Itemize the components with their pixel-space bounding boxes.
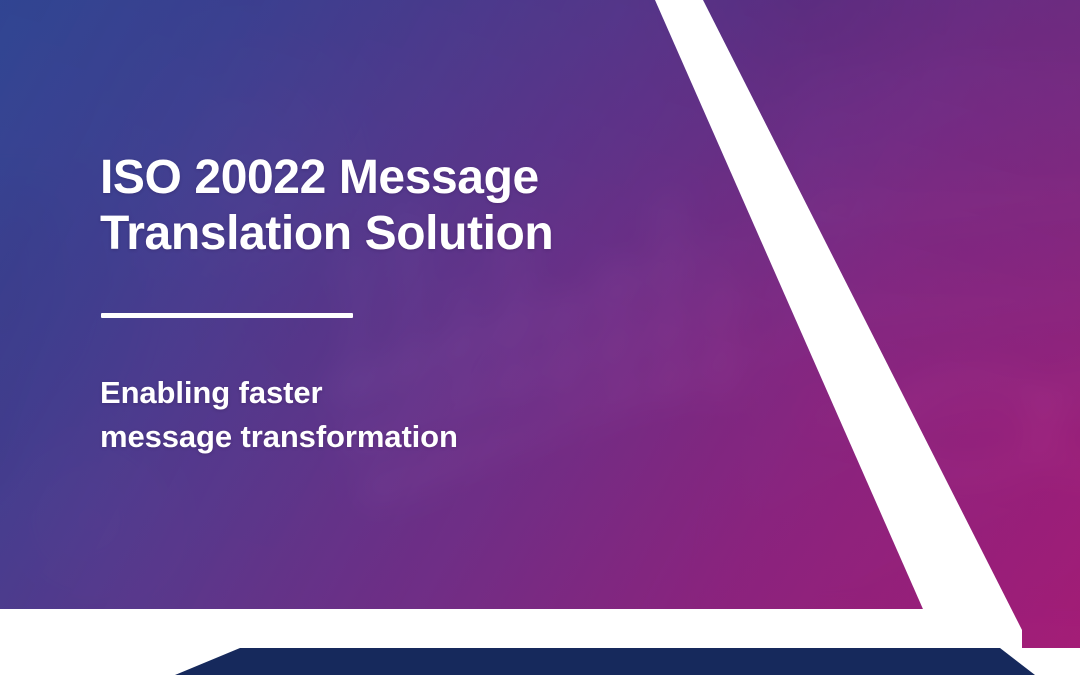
divider xyxy=(101,313,353,318)
subhead-line-1: Enabling faster xyxy=(100,375,322,410)
page-subtitle: Enabling faster message transformation xyxy=(100,371,660,459)
headline-line-2: Translation Solution xyxy=(100,207,553,260)
page-title: ISO 20022 Message Translation Solution xyxy=(100,150,660,262)
hero-content: ISO 20022 Message Translation Solution E… xyxy=(100,150,660,459)
hero-banner: ISO 20022 Message Translation Solution E… xyxy=(0,0,1080,675)
subhead-line-2: message transformation xyxy=(100,419,458,454)
headline-line-1: ISO 20022 Message xyxy=(100,151,539,204)
